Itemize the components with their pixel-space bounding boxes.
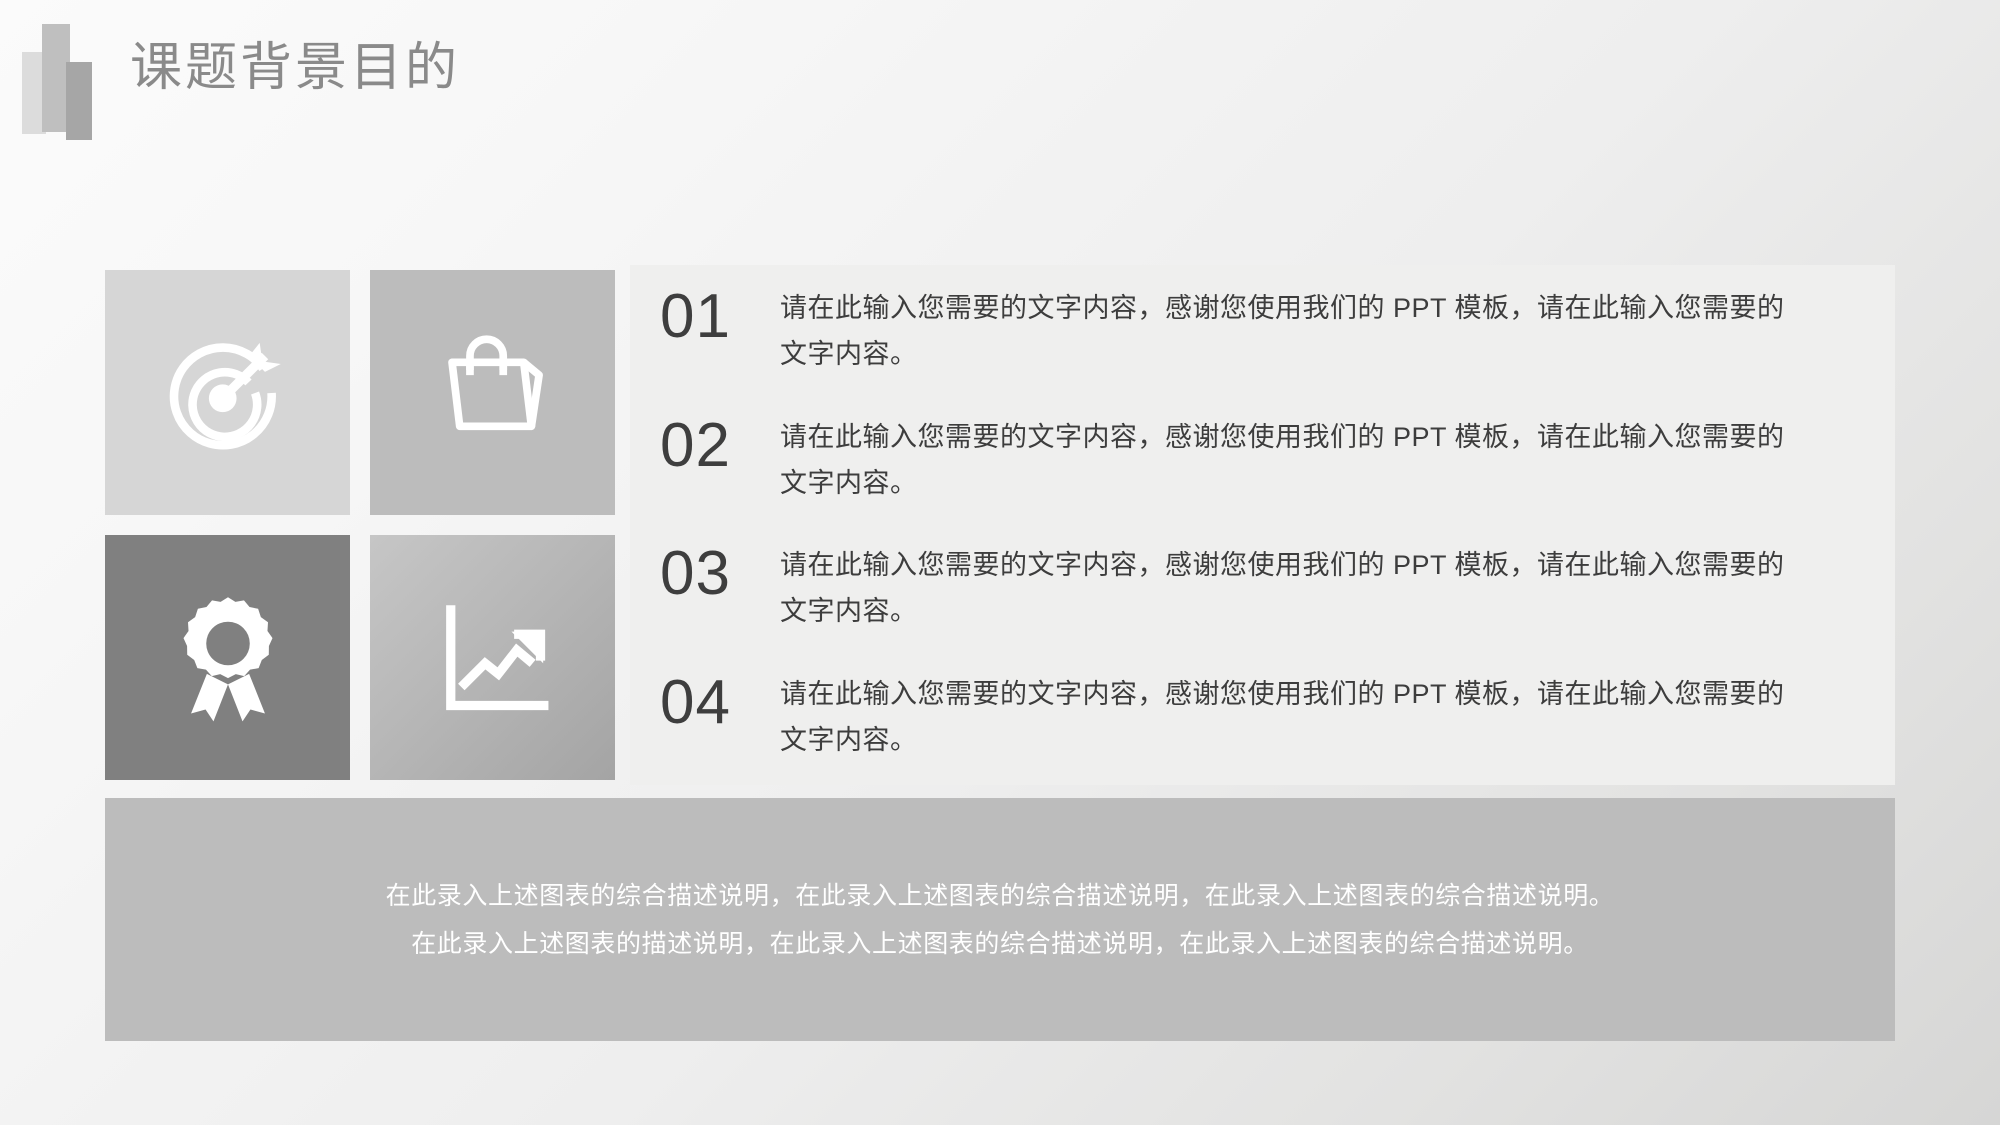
caption-line-2: 在此录入上述图表的描述说明，在此录入上述图表的综合描述说明，在此录入上述图表的综… xyxy=(411,920,1589,968)
list-item[interactable]: 02 请在此输入您需要的文字内容，感谢您使用我们的 PPT 模板，请在此输入您需… xyxy=(630,400,1895,529)
list-item[interactable]: 01 请在此输入您需要的文字内容，感谢您使用我们的 PPT 模板，请在此输入您需… xyxy=(630,271,1895,400)
target-icon xyxy=(162,327,294,459)
list-item[interactable]: 04 请在此输入您需要的文字内容，感谢您使用我们的 PPT 模板，请在此输入您需… xyxy=(630,657,1895,786)
award-ribbon-icon xyxy=(162,592,294,724)
caption-line-1: 在此录入上述图表的综合描述说明，在此录入上述图表的综合描述说明，在此录入上述图表… xyxy=(386,872,1615,920)
slide-header: 课题背景目的 xyxy=(0,0,2000,170)
tile-growth-chart[interactable] xyxy=(370,535,615,780)
list-item[interactable]: 03 请在此输入您需要的文字内容，感谢您使用我们的 PPT 模板，请在此输入您需… xyxy=(630,528,1895,657)
list-item-text: 请在此输入您需要的文字内容，感谢您使用我们的 PPT 模板，请在此输入您需要的文… xyxy=(780,657,1810,763)
list-item-number: 02 xyxy=(660,400,780,492)
list-item-number: 03 xyxy=(660,528,780,620)
title-decoration-bars xyxy=(22,24,112,134)
slide-canvas: 课题背景目的 xyxy=(0,0,2000,1125)
list-item-text: 请在此输入您需要的文字内容，感谢您使用我们的 PPT 模板，请在此输入您需要的文… xyxy=(780,528,1810,634)
summary-caption-panel: 在此录入上述图表的综合描述说明，在此录入上述图表的综合描述说明，在此录入上述图表… xyxy=(105,798,1895,1041)
list-item-number: 01 xyxy=(660,271,780,363)
page-title: 课题背景目的 xyxy=(130,28,460,108)
shopping-bag-icon xyxy=(429,329,557,457)
list-item-text: 请在此输入您需要的文字内容，感谢您使用我们的 PPT 模板，请在此输入您需要的文… xyxy=(780,400,1810,506)
list-item-number: 04 xyxy=(660,657,780,749)
decoration-bar-dark xyxy=(66,62,92,140)
tile-shopping-bag[interactable] xyxy=(370,270,615,515)
tile-target[interactable] xyxy=(105,270,350,515)
numbered-list-panel: 01 请在此输入您需要的文字内容，感谢您使用我们的 PPT 模板，请在此输入您需… xyxy=(630,265,1895,785)
icon-tile-grid xyxy=(105,270,615,785)
numbered-list: 01 请在此输入您需要的文字内容，感谢您使用我们的 PPT 模板，请在此输入您需… xyxy=(630,265,1895,785)
list-item-text: 请在此输入您需要的文字内容，感谢您使用我们的 PPT 模板，请在此输入您需要的文… xyxy=(780,271,1810,377)
tile-award[interactable] xyxy=(105,535,350,780)
growth-chart-icon xyxy=(427,592,559,724)
